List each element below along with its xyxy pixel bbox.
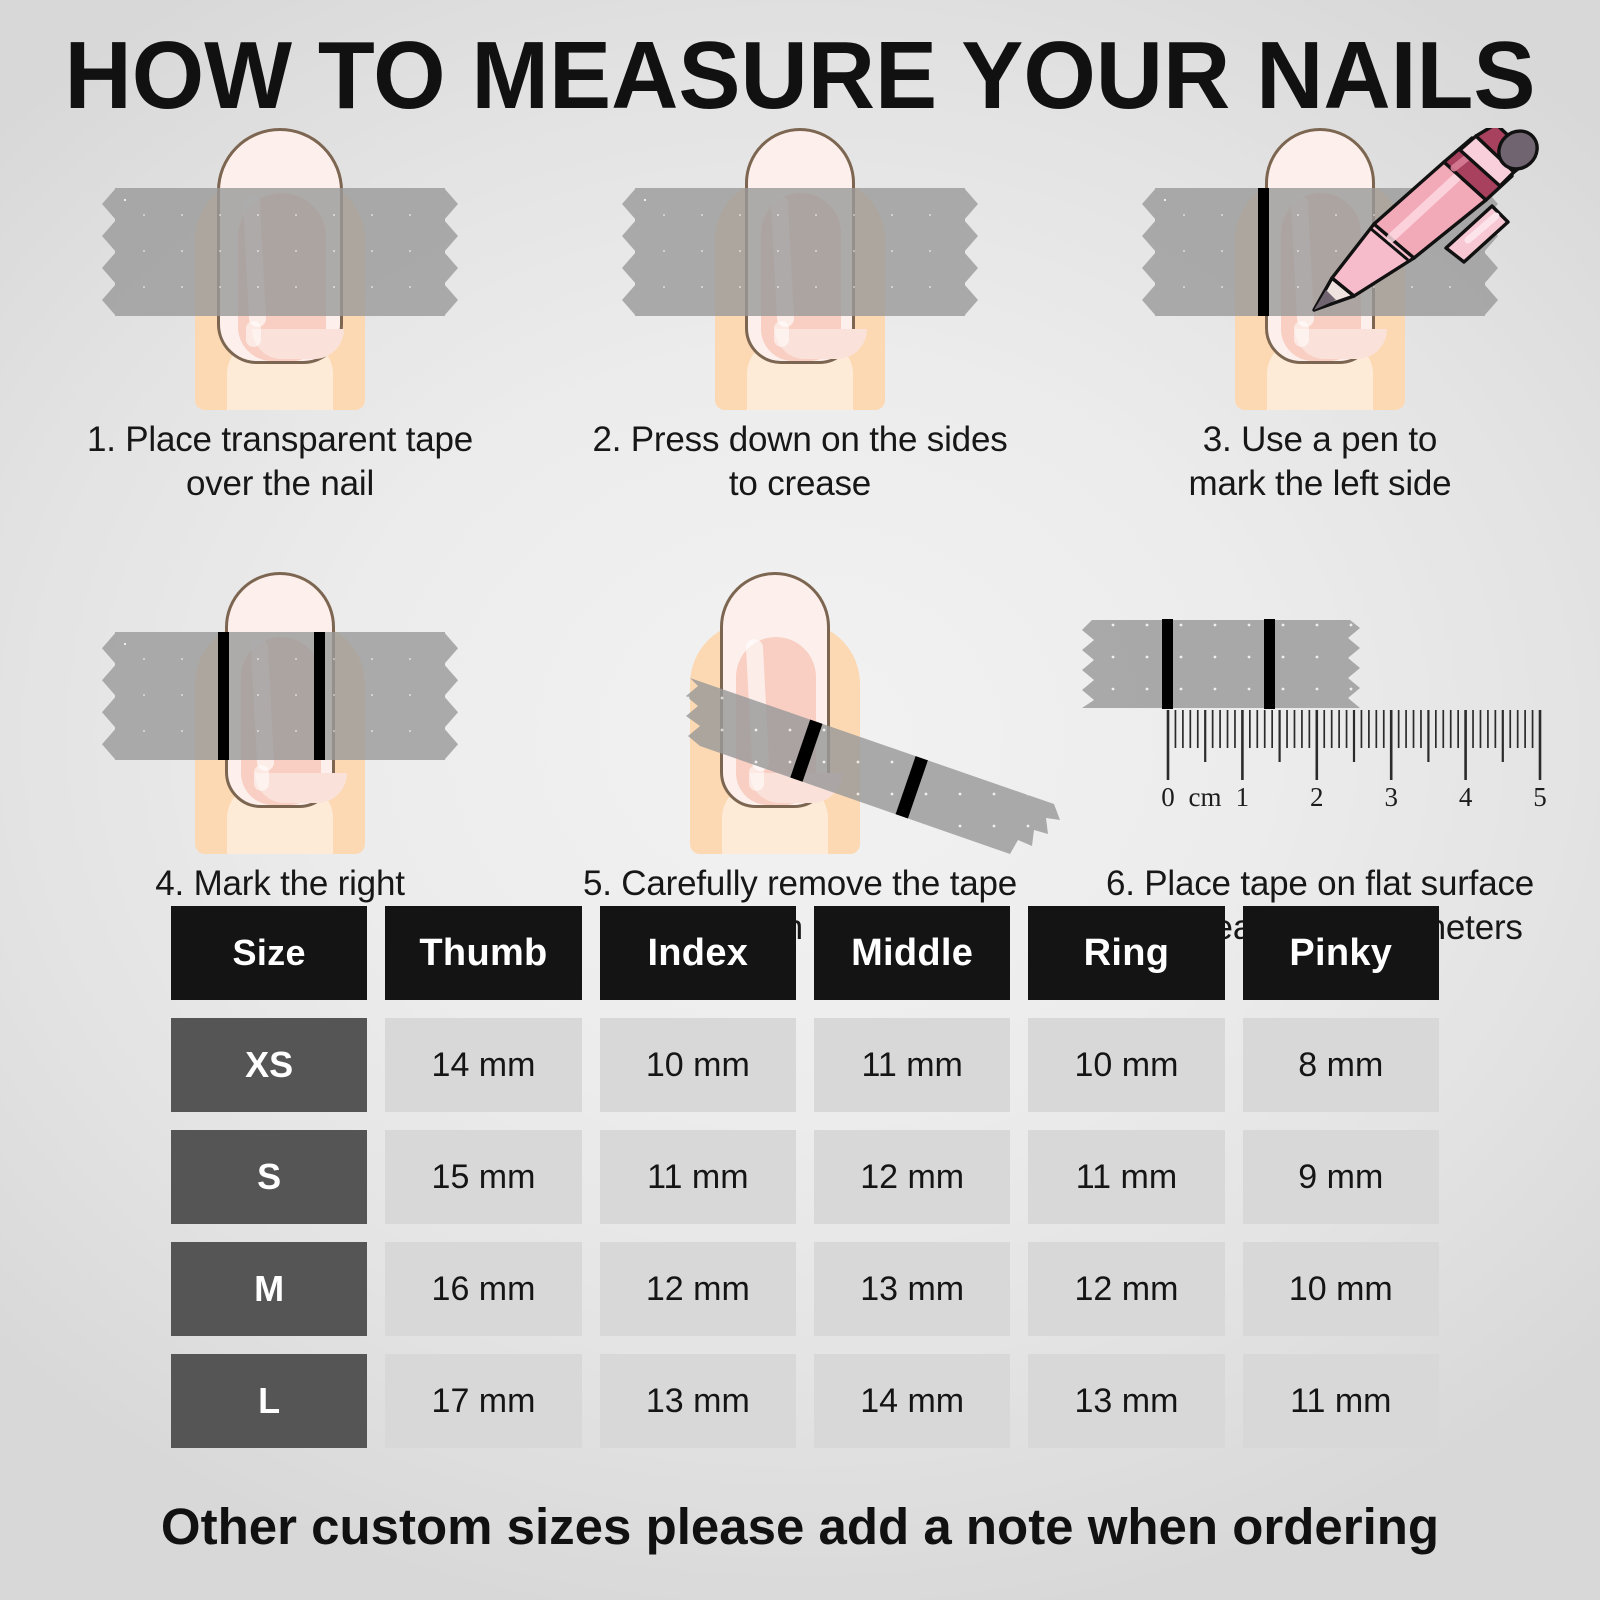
page-title: HOW TO MEASURE YOUR NAILS	[24, 26, 1576, 127]
left-mark-line	[1258, 188, 1269, 316]
steps-row-2: 4. Mark the right side next	[20, 564, 1580, 950]
caption-line-1: 6. Place tape on flat surface	[1060, 862, 1580, 906]
left-mark-line	[218, 632, 229, 760]
cell-s-pinky: 9 mm	[1243, 1130, 1439, 1224]
tape-texture-dots	[115, 188, 445, 316]
column-header-pinky: Pinky	[1243, 906, 1439, 1000]
steps-row-1: 1. Place transparent tape over the nail	[20, 120, 1580, 506]
step-6: 0 cm 1 2 3 4 5 6. Place tape on flat	[1060, 564, 1580, 950]
cell-m-ring: 12 mm	[1028, 1242, 1224, 1336]
table-row: XS 14 mm 10 mm 11 mm 10 mm 8 mm	[171, 1018, 1439, 1112]
size-label-l: L	[171, 1354, 367, 1448]
left-mark-line	[1162, 619, 1173, 709]
step-3-illustration	[1060, 120, 1580, 410]
cell-s-ring: 11 mm	[1028, 1130, 1224, 1224]
cell-m-index: 12 mm	[600, 1242, 796, 1336]
size-label-s: S	[171, 1130, 367, 1224]
right-mark-line	[314, 632, 325, 760]
caption-line-2: mark the left side	[1070, 462, 1570, 506]
size-label-m: M	[171, 1242, 367, 1336]
tape-strip-peeled	[680, 626, 1060, 856]
ruler-tick-4: 4	[1459, 782, 1473, 812]
table-row: S 15 mm 11 mm 12 mm 11 mm 9 mm	[171, 1130, 1439, 1224]
tape-strip	[115, 188, 445, 316]
cell-l-ring: 13 mm	[1028, 1354, 1224, 1448]
tape-strip	[115, 632, 445, 760]
step-3: 3. Use a pen to mark the left side	[1060, 120, 1580, 506]
column-header-index: Index	[600, 906, 796, 1000]
step-2-caption: 2. Press down on the sides to crease	[550, 418, 1050, 506]
cell-m-middle: 13 mm	[814, 1242, 1010, 1336]
column-header-ring: Ring	[1028, 906, 1224, 1000]
cell-s-middle: 12 mm	[814, 1130, 1010, 1224]
step-5: 5. Carefully remove the tape from nail	[540, 564, 1060, 950]
tape-texture-dots	[635, 188, 965, 316]
ruler-unit-label: cm	[1189, 782, 1222, 812]
column-header-middle: Middle	[814, 906, 1010, 1000]
tape-texture-dots	[115, 632, 445, 760]
ruler-tick-0: 0	[1161, 782, 1175, 812]
cell-xs-pinky: 8 mm	[1243, 1018, 1439, 1112]
ruler-with-tape: 0 cm 1 2 3 4 5	[1070, 584, 1570, 844]
cell-l-index: 13 mm	[600, 1354, 796, 1448]
caption-line-2: to crease	[550, 462, 1050, 506]
step-1: 1. Place transparent tape over the nail	[20, 120, 540, 506]
step-2-illustration	[540, 120, 1060, 410]
nail-gloss-dot	[254, 765, 269, 791]
column-header-size: Size	[171, 906, 367, 1000]
tape-strip	[1070, 584, 1570, 724]
right-mark-line	[1264, 619, 1275, 709]
step-2: 2. Press down on the sides to crease	[540, 120, 1060, 506]
size-chart-table: Size Thumb Index Middle Ring Pinky XS 14…	[171, 906, 1439, 1448]
footer-note: Other custom sizes please add a note whe…	[0, 1497, 1600, 1556]
cell-xs-middle: 11 mm	[814, 1018, 1010, 1112]
ruler-svg: 0 cm 1 2 3 4 5	[1070, 584, 1570, 844]
table-header-row: Size Thumb Index Middle Ring Pinky	[171, 906, 1439, 1000]
caption-line-2: over the nail	[30, 462, 530, 506]
caption-line-1: 4. Mark the right	[30, 862, 530, 906]
table-row: L 17 mm 13 mm 14 mm 13 mm 11 mm	[171, 1354, 1439, 1448]
step-4: 4. Mark the right side next	[20, 564, 540, 950]
cell-l-thumb: 17 mm	[385, 1354, 581, 1448]
size-label-xs: XS	[171, 1018, 367, 1112]
cell-s-thumb: 15 mm	[385, 1130, 581, 1224]
ruler-tick-2: 2	[1310, 782, 1324, 812]
step-5-illustration	[540, 564, 1060, 854]
caption-line-1: 2. Press down on the sides	[550, 418, 1050, 462]
caption-line-1: 1. Place transparent tape	[30, 418, 530, 462]
table-row: M 16 mm 12 mm 13 mm 12 mm 10 mm	[171, 1242, 1439, 1336]
tape-strip	[635, 188, 965, 316]
cell-s-index: 11 mm	[600, 1130, 796, 1224]
ruler-tick-1: 1	[1236, 782, 1250, 812]
step-4-illustration	[20, 564, 540, 854]
step-1-illustration	[20, 120, 540, 410]
ruler-labels: 0 cm 1 2 3 4 5	[1161, 782, 1547, 812]
ruler-tick-3: 3	[1384, 782, 1398, 812]
column-header-thumb: Thumb	[385, 906, 581, 1000]
nail-gloss-dot	[774, 321, 789, 347]
step-6-illustration: 0 cm 1 2 3 4 5	[1060, 564, 1580, 854]
step-3-caption: 3. Use a pen to mark the left side	[1070, 418, 1570, 506]
caption-line-1: 3. Use a pen to	[1070, 418, 1570, 462]
cell-m-pinky: 10 mm	[1243, 1242, 1439, 1336]
cell-l-middle: 14 mm	[814, 1354, 1010, 1448]
caption-line-1: 5. Carefully remove the tape	[550, 862, 1050, 906]
step-1-caption: 1. Place transparent tape over the nail	[30, 418, 530, 506]
steps-grid: 1. Place transparent tape over the nail	[20, 120, 1580, 950]
pen-icon	[1296, 128, 1556, 328]
nail-gloss-dot	[246, 321, 261, 347]
cell-l-pinky: 11 mm	[1243, 1354, 1439, 1448]
infographic-page: HOW TO MEASURE YOUR NAILS	[0, 0, 1600, 1600]
cell-xs-thumb: 14 mm	[385, 1018, 581, 1112]
cell-xs-index: 10 mm	[600, 1018, 796, 1112]
ruler-ticks	[1168, 710, 1540, 780]
ruler-tick-5: 5	[1533, 782, 1547, 812]
cell-xs-ring: 10 mm	[1028, 1018, 1224, 1112]
cell-m-thumb: 16 mm	[385, 1242, 581, 1336]
